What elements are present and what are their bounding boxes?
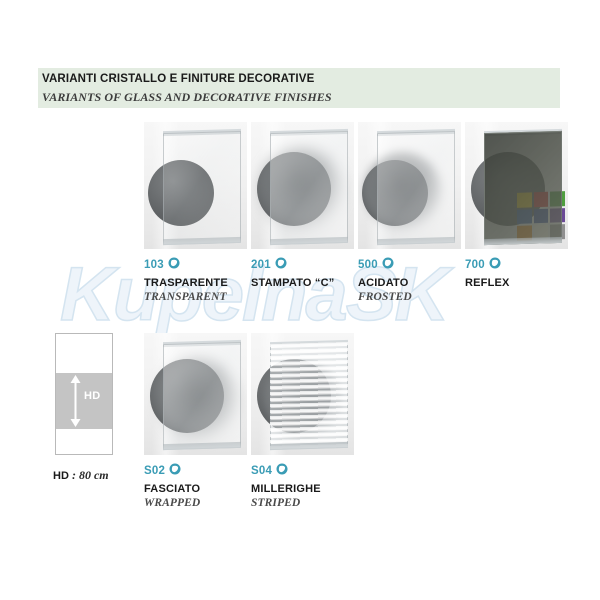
glass-pane <box>484 131 562 245</box>
glass-finish-icon <box>489 256 501 274</box>
page-title: VARIANTI CRISTALLO E FINITURE DECORATIVE <box>42 73 314 85</box>
code-line: 201 <box>251 258 354 272</box>
acidato-glass-sample <box>358 122 461 249</box>
hd-band-label: HD <box>84 390 101 402</box>
glass-pane <box>163 131 241 245</box>
code-number: S02 <box>144 465 165 477</box>
sample-cell-700[interactable]: 700 REFLEX <box>465 122 568 291</box>
millerighe-glass-sample <box>251 333 354 455</box>
hd-diagram: HD <box>55 333 113 455</box>
glass-finish-icon <box>169 462 181 480</box>
code-number: 700 <box>465 259 485 271</box>
hd-caption-value: : 80 cm <box>72 468 109 482</box>
finish-name-it: REFLEX <box>465 277 568 289</box>
code-number: 500 <box>358 259 378 271</box>
code-line: S02 <box>144 464 247 478</box>
stampato-c-glass-sample <box>251 122 354 249</box>
sample-cell-500[interactable]: 500 ACIDATO FROSTED <box>358 122 461 303</box>
finish-name-it: TRASPARENTE <box>144 277 247 289</box>
finish-name-en: WRAPPED <box>144 497 247 509</box>
finish-name-it: MILLERIGHE <box>251 483 354 495</box>
sample-cell-S04[interactable]: S04 MILLERIGHE STRIPED <box>251 333 354 509</box>
code-number: 103 <box>144 259 164 271</box>
code-line: 500 <box>358 258 461 272</box>
code-line: 103 <box>144 258 247 272</box>
sample-cell-201[interactable]: 201 STAMPATO “C” <box>251 122 354 291</box>
finish-name-en: TRANSPARENT <box>144 291 247 303</box>
code-line: 700 <box>465 258 568 272</box>
transparent-glass-sample <box>144 122 247 249</box>
code-number: 201 <box>251 259 271 271</box>
code-line: S04 <box>251 464 354 478</box>
finish-name-it: ACIDATO <box>358 277 461 289</box>
hd-caption-key: HD <box>53 470 69 482</box>
finish-name-it: STAMPATO “C” <box>251 277 354 289</box>
finish-name-en: FROSTED <box>358 291 461 303</box>
sample-cell-103[interactable]: 103 TRASPARENTE TRANSPARENT <box>144 122 247 303</box>
glass-pane <box>163 342 241 450</box>
page-subtitle: VARIANTS OF GLASS AND DECORATIVE FINISHE… <box>42 90 332 105</box>
fasciato-glass-sample <box>144 333 247 455</box>
hd-arrow-icon <box>69 375 82 427</box>
glass-pane <box>377 131 455 245</box>
glass-finish-icon <box>275 256 287 274</box>
finish-name-en: STRIPED <box>251 497 354 509</box>
code-number: S04 <box>251 465 272 477</box>
hd-caption: HD : 80 cm <box>53 468 109 483</box>
reflex-glass-sample <box>465 122 568 249</box>
glass-finish-icon <box>382 256 394 274</box>
glass-finish-icon <box>168 256 180 274</box>
sample-cell-S02[interactable]: S02 FASCIATO WRAPPED <box>144 333 247 509</box>
glass-pane <box>270 131 348 245</box>
stripe-overlay <box>270 342 348 450</box>
glass-finish-icon <box>276 462 288 480</box>
finish-name-it: FASCIATO <box>144 483 247 495</box>
